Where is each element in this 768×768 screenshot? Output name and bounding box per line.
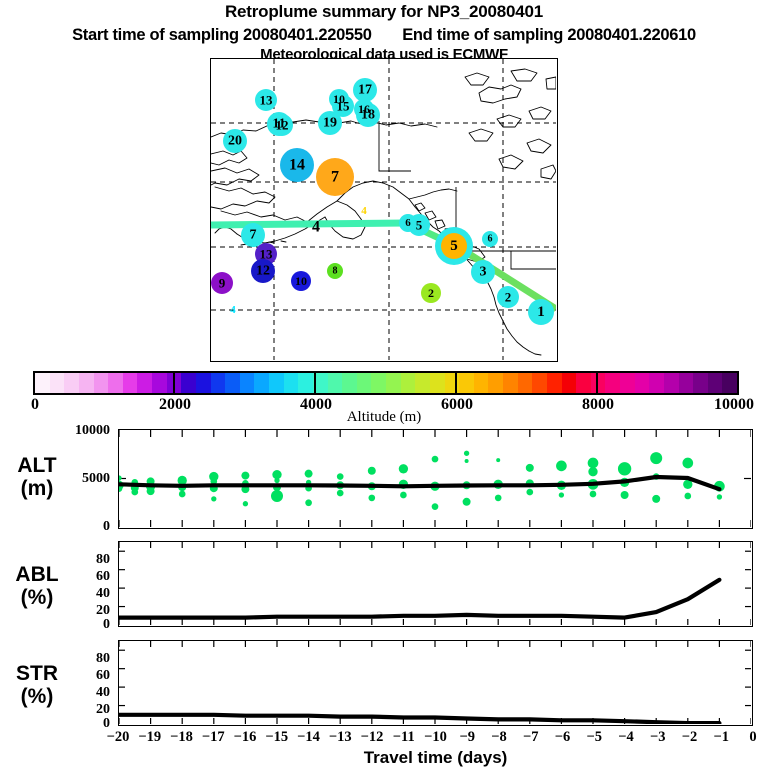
map-coastlines xyxy=(211,69,556,355)
colorbar-swatch xyxy=(152,373,167,393)
colorbar-swatch xyxy=(284,373,299,393)
colorbar-swatch xyxy=(64,373,79,393)
colorbar-swatch xyxy=(503,373,518,393)
colorbar-divider xyxy=(314,371,316,395)
alt-plot-panel xyxy=(118,429,753,529)
map-marker-label: 13 xyxy=(260,93,274,108)
alt-scatter-point xyxy=(368,495,375,502)
colorbar-swatch xyxy=(562,373,577,393)
alt-scatter-point xyxy=(211,496,216,501)
alt-trend-line xyxy=(119,477,719,489)
map-marker-label: 5 xyxy=(416,218,423,233)
alt-scatter-point xyxy=(131,489,138,496)
map-marker-label: 15 xyxy=(337,99,351,114)
colorbar-divider xyxy=(455,371,457,395)
map-marker-label: 13 xyxy=(260,247,274,262)
abl-line xyxy=(119,580,719,618)
xaxis-tick: −3 xyxy=(650,729,666,746)
colorbar-swatch xyxy=(123,373,138,393)
xaxis-title: Travel time (days) xyxy=(118,748,753,768)
xaxis-tick: −20 xyxy=(107,729,130,746)
str-ytick: 0 xyxy=(58,716,110,732)
colorbar-swatch xyxy=(664,373,679,393)
map-marker-label: 6 xyxy=(405,217,411,229)
colorbar-swatch xyxy=(181,373,196,393)
map-marker-label: 17 xyxy=(358,83,372,98)
alt-scatter-point xyxy=(432,456,439,463)
colorbar-swatch xyxy=(35,373,50,393)
alt-scatter-point xyxy=(271,490,283,502)
alt-scatter-point xyxy=(119,475,122,480)
alt-scatter-point xyxy=(682,458,693,469)
alt-scatter-point xyxy=(590,491,597,498)
alt-plot-canvas xyxy=(119,430,751,527)
xaxis-tick: −2 xyxy=(682,729,698,746)
str-line xyxy=(119,715,719,723)
xaxis-tick: −19 xyxy=(138,729,161,746)
colorbar-swatch xyxy=(371,373,386,393)
figure-title: Retroplume summary for NP3_20080401 xyxy=(0,2,768,22)
xaxis-tick: −8 xyxy=(491,729,507,746)
xaxis-tick: −4 xyxy=(618,729,634,746)
abl-plot-canvas xyxy=(119,542,751,625)
str-ytick: 60 xyxy=(58,668,110,684)
alt-scatter-point xyxy=(400,492,407,499)
alt-scatter-point xyxy=(556,461,567,472)
colorbar-swatch xyxy=(576,373,591,393)
abl-ytick: 60 xyxy=(58,569,110,585)
abl-ytick: 40 xyxy=(58,586,110,602)
alt-ytick: 5000 xyxy=(58,471,110,487)
map-marker-label: 8 xyxy=(333,266,338,277)
colorbar-swatch xyxy=(79,373,94,393)
alt-scatter-point xyxy=(526,489,533,496)
alt-scatter-point xyxy=(559,492,564,497)
alt-scatter-point xyxy=(368,467,376,475)
retroplume-map: 1713101516181112192014771312910821235656… xyxy=(210,58,558,362)
alt-scatter-point xyxy=(179,491,186,498)
colorbar-swatch xyxy=(386,373,401,393)
alt-scatter-point xyxy=(621,491,629,499)
alt-scatter-point xyxy=(243,501,248,506)
xaxis-tick: −10 xyxy=(424,729,447,746)
abl-ytick: 0 xyxy=(58,617,110,633)
alt-ytick: 10000 xyxy=(58,423,110,439)
str-ytick: 40 xyxy=(58,685,110,701)
start-time-label: Start time of sampling 20080401.220550 xyxy=(72,26,372,44)
alt-scatter-point xyxy=(463,498,471,506)
colorbar-swatch xyxy=(254,373,269,393)
map-marker-label: 19 xyxy=(323,116,337,131)
colorbar-swatch xyxy=(94,373,109,393)
map-tiny-label: 4 xyxy=(230,304,236,316)
alt-scatter-point xyxy=(495,495,502,502)
str-plot-canvas xyxy=(119,641,751,724)
xaxis-tick: −15 xyxy=(265,729,288,746)
colorbar-swatch xyxy=(635,373,650,393)
str-plot-panel xyxy=(118,640,753,726)
colorbar-swatch xyxy=(532,373,547,393)
alt-scatter-point xyxy=(305,499,312,506)
xaxis-tick: −16 xyxy=(234,729,257,746)
map-tiny-label: 4 xyxy=(361,205,367,217)
colorbar-swatch xyxy=(649,373,664,393)
colorbar-swatch xyxy=(459,373,474,393)
map-marker-label: 10 xyxy=(295,274,307,288)
alt-scatter-point xyxy=(588,458,599,469)
colorbar-swatch xyxy=(357,373,372,393)
xaxis-tick: −6 xyxy=(555,729,571,746)
end-time-label: End time of sampling 20080401.220610 xyxy=(402,26,696,44)
map-marker-label: 12 xyxy=(256,264,270,279)
alt-scatter-point xyxy=(717,494,722,499)
colorbar-swatch xyxy=(269,373,284,393)
colorbar-swatch xyxy=(708,373,723,393)
retroplume-summary-figure: Retroplume summary for NP3_20080401 Star… xyxy=(0,0,768,768)
xaxis-tick: −17 xyxy=(202,729,225,746)
str-ytick: 80 xyxy=(58,651,110,667)
map-marker-label: 14 xyxy=(289,157,305,174)
colorbar-swatch xyxy=(605,373,620,393)
xaxis-tick: −11 xyxy=(393,729,415,746)
alt-scatter-point xyxy=(337,473,344,480)
colorbar-swatch xyxy=(196,373,211,393)
map-marker-label: 7 xyxy=(250,228,257,243)
xaxis-tick: −5 xyxy=(586,729,602,746)
xaxis-tick: −13 xyxy=(329,729,352,746)
colorbar-swatch xyxy=(415,373,430,393)
colorbar-swatch xyxy=(240,373,255,393)
xaxis-tick: −18 xyxy=(170,729,193,746)
alt-scatter-point xyxy=(652,495,660,503)
colorbar-swatch xyxy=(488,373,503,393)
alt-scatter-point xyxy=(432,503,439,510)
map-marker-label: 9 xyxy=(219,276,226,291)
alt-scatter-point xyxy=(684,493,691,500)
alt-scatter-point xyxy=(618,462,631,475)
map-marker-label: 2 xyxy=(428,286,434,300)
map-canvas: 1713101516181112192014771312910821235656… xyxy=(211,59,556,360)
altitude-colorbar xyxy=(33,371,739,395)
map-tiny-label: 4 xyxy=(312,219,320,236)
map-marker-label: 2 xyxy=(505,290,512,305)
xaxis-tick: −9 xyxy=(459,729,475,746)
alt-scatter-point xyxy=(241,472,249,480)
map-marker-label: 20 xyxy=(228,134,242,149)
sampling-time-line: Start time of sampling 20080401.220550 E… xyxy=(0,26,768,45)
alt-scatter-point xyxy=(464,451,469,456)
alt-scatter-point xyxy=(465,459,469,463)
alt-scatter-point xyxy=(496,458,500,462)
xaxis-tick: −14 xyxy=(297,729,320,746)
xaxis-tick: 0 xyxy=(749,729,756,746)
abl-ytick: 80 xyxy=(58,552,110,568)
alt-scatter-point xyxy=(526,464,534,472)
colorbar-swatch xyxy=(679,373,694,393)
xaxis-tick: −12 xyxy=(361,729,384,746)
colorbar-divider xyxy=(596,371,598,395)
colorbar-swatch xyxy=(430,373,445,393)
map-marker-label: 3 xyxy=(480,265,487,280)
colorbar-swatch xyxy=(620,373,635,393)
map-marker-label: 1 xyxy=(537,304,545,320)
abl-plot-panel xyxy=(118,541,753,627)
xaxis-tick: −7 xyxy=(523,729,539,746)
colorbar-swatch xyxy=(108,373,123,393)
alt-scatter-point xyxy=(305,470,313,478)
colorbar-swatch xyxy=(401,373,416,393)
alt-scatter-point xyxy=(337,490,344,497)
alt-ytick: 0 xyxy=(58,519,110,535)
xaxis-tick: −1 xyxy=(713,729,729,746)
colorbar-swatch xyxy=(211,373,226,393)
colorbar-swatch xyxy=(547,373,562,393)
colorbar-swatch xyxy=(298,373,313,393)
map-marker-label: 18 xyxy=(361,108,375,123)
colorbar-swatch xyxy=(137,373,152,393)
map-marker-label: 7 xyxy=(331,169,339,186)
alt-scatter-point xyxy=(274,478,279,483)
alt-scatter-point xyxy=(650,452,662,464)
map-marker-label: 5 xyxy=(450,238,458,254)
colorbar-swatch xyxy=(342,373,357,393)
alt-scatter-point xyxy=(147,487,155,495)
colorbar-swatch xyxy=(50,373,65,393)
colorbar-swatch xyxy=(693,373,708,393)
colorbar-swatch xyxy=(225,373,240,393)
colorbar-swatch xyxy=(591,373,606,393)
colorbar-swatch xyxy=(328,373,343,393)
map-marker-label: 6 xyxy=(488,234,493,245)
colorbar-swatch xyxy=(474,373,489,393)
alt-scatter-point xyxy=(588,467,597,476)
colorbar-divider xyxy=(173,371,175,395)
alt-scatter-point xyxy=(399,464,408,473)
colorbar-swatch xyxy=(722,373,737,393)
colorbar-swatch xyxy=(518,373,533,393)
colorbar-caption: Altitude (m) xyxy=(0,409,768,426)
map-marker-label: 12 xyxy=(276,118,289,133)
map-marker-labels: 1713101516181112192014771312910821235656… xyxy=(219,83,545,321)
